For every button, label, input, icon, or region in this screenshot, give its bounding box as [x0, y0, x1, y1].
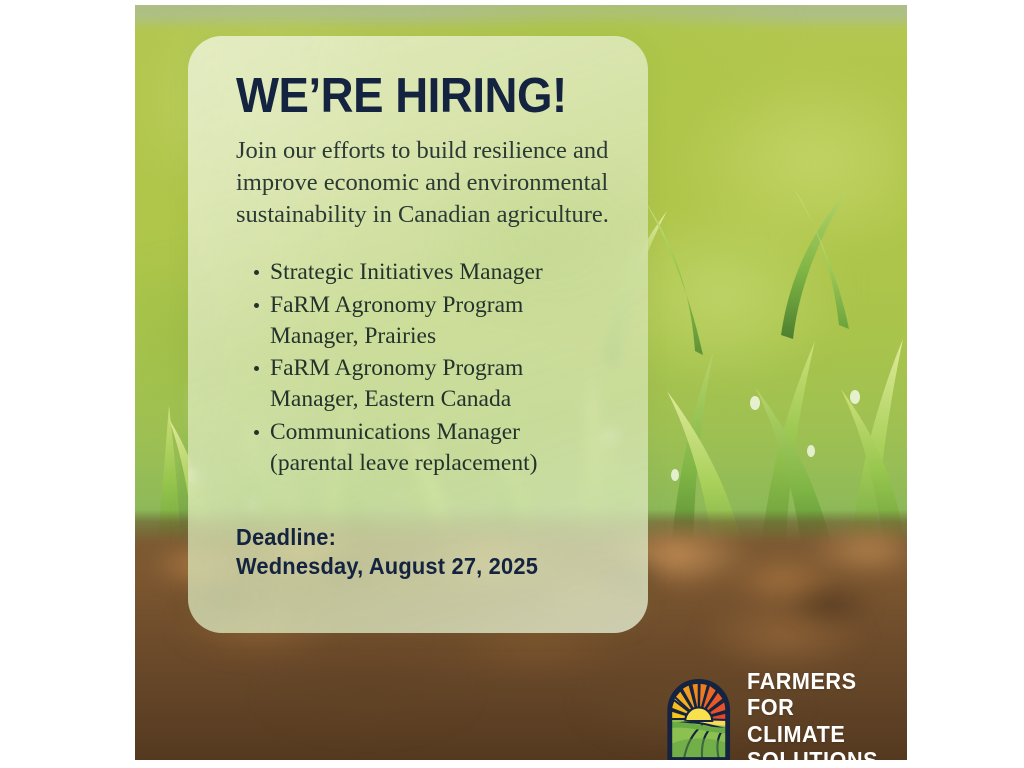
deadline-date: Wednesday, August 27, 2025 — [236, 552, 595, 581]
organization-logo: FARMERS FOR CLIMATE SOLUTIONS — [664, 668, 907, 760]
poster-canvas: WE’RE HIRING! Join our efforts to build … — [0, 0, 1024, 768]
hiring-card: WE’RE HIRING! Join our efforts to build … — [188, 36, 648, 633]
deadline-label: Deadline: — [236, 523, 595, 552]
logo-wordmark: FARMERS FOR CLIMATE SOLUTIONS — [747, 668, 894, 760]
list-item: Communications Manager (parental leave r… — [252, 417, 600, 480]
list-item: FaRM Agronomy Program Manager, Prairies — [252, 290, 600, 353]
job-openings-list: Strategic Initiatives Manager FaRM Agron… — [252, 257, 614, 479]
list-item: Strategic Initiatives Manager — [252, 257, 600, 288]
list-item: FaRM Agronomy Program Manager, Eastern C… — [252, 353, 600, 416]
logo-line-1: FARMERS — [747, 668, 894, 694]
deadline-block: Deadline: Wednesday, August 27, 2025 — [236, 523, 595, 582]
logo-line-3: SOLUTIONS — [747, 747, 894, 760]
logo-line-2: FOR CLIMATE — [747, 694, 894, 747]
background-photograph: WE’RE HIRING! Join our efforts to build … — [135, 5, 907, 760]
sun-over-field-arch-icon — [664, 677, 733, 760]
page-title: WE’RE HIRING! — [236, 72, 588, 121]
intro-paragraph: Join our efforts to build resilience and… — [236, 135, 614, 231]
